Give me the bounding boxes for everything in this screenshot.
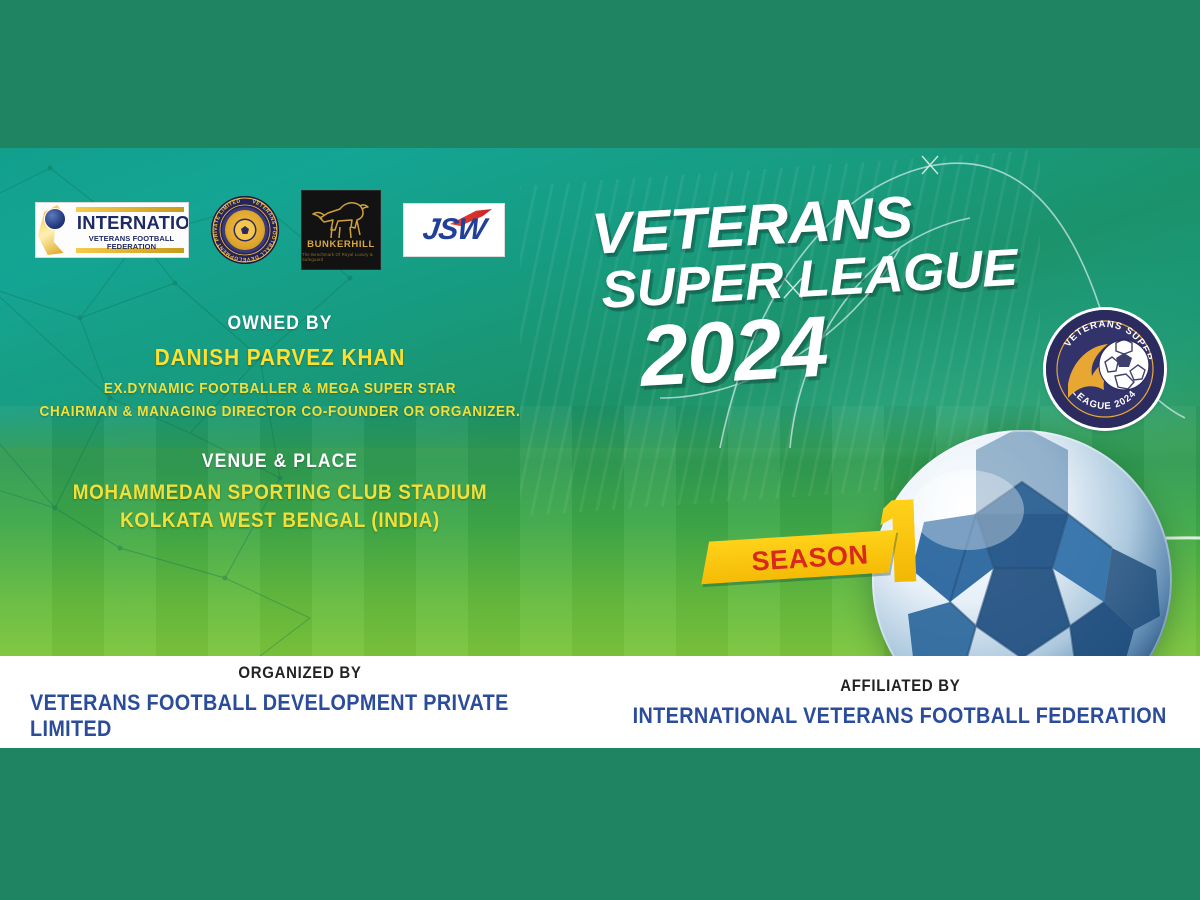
vsl-emblem-icon: VETERANS SUPER LEAGUE 2024 [1046,310,1164,428]
owner-subtitle-2: CHAIRMAN & MANAGING DIRECTOR CO-FOUNDER … [28,403,532,420]
ivff-logo-line1: INTERNATIONAL [77,214,186,232]
bunkerhill-logo[interactable]: BUNKERHILL The Benchmark Of Royal Luxury… [301,190,381,270]
credits-footer: ORGANIZED BY VETERANS FOOTBALL DEVELOPME… [0,656,1200,748]
international-veterans-football-federation-logo[interactable]: INTERNATIONAL VETERANS FOOTBALL FEDERATI… [35,202,189,258]
affiliated-by-label: AFFILIATED BY [840,676,960,696]
bunkerhill-tagline: The Benchmark Of Royal Luxury & Safeguar… [302,252,380,262]
winged-lion-icon [312,197,372,243]
ivff-logo-line2: VETERANS FOOTBALL FEDERATION [78,235,185,250]
veterans-super-league-emblem[interactable]: VETERANS SUPER LEAGUE 2024 [1046,310,1164,428]
gold-bar-top [76,207,184,212]
owner-venue-block: OWNED BY DANISH PARVEZ KHAN EX.DYNAMIC F… [0,313,560,533]
ivff-logo-text: INTERNATIONAL VETERANS FOOTBALL FEDERATI… [78,214,185,250]
owner-name: DANISH PARVEZ KHAN [28,344,532,371]
owned-by-label: OWNED BY [22,313,537,335]
event-banner: INTERNATIONAL VETERANS FOOTBALL FEDERATI… [0,148,1200,656]
venue-block: VENUE & PLACE MOHAMMEDAN SPORTING CLUB S… [0,451,560,533]
organized-by-column: ORGANIZED BY VETERANS FOOTBALL DEVELOPME… [0,656,600,748]
football-icon [235,220,255,240]
event-title-block: VETERANS SUPER LEAGUE 2024 SEASON [590,208,1070,398]
affiliated-by-value: INTERNATIONAL VETERANS FOOTBALL FEDERATI… [633,703,1167,729]
jsw-wordmark: JSW [421,213,488,247]
vfd-emblem-inner [225,210,265,250]
venue-line-1: MOHAMMEDAN SPORTING CLUB STADIUM [28,481,532,505]
venue-line-2: KOLKATA WEST BENGAL (INDIA) [28,509,532,533]
owner-subtitle-1: EX.DYNAMIC FOOTBALLER & MEGA SUPER STAR [28,380,532,397]
affiliated-by-column: AFFILIATED BY INTERNATIONAL VETERANS FOO… [600,656,1200,748]
venue-label: VENUE & PLACE [22,451,537,473]
veterans-football-development-private-limited-logo[interactable]: VETERANS FOOTBALL DEVELOPMENT PRIVATE LI… [211,196,279,264]
organized-by-value: VETERANS FOOTBALL DEVELOPMENT PRIVATE LI… [30,690,570,742]
football-icon [44,208,66,230]
banner-page: INTERNATIONAL VETERANS FOOTBALL FEDERATI… [0,0,1200,900]
jsw-logo[interactable]: JSW [403,203,505,257]
sponsor-logo-row: INTERNATIONAL VETERANS FOOTBALL FEDERATI… [35,190,505,270]
organized-by-label: ORGANIZED BY [238,663,361,683]
title-line-3-year: 2024 [638,293,1074,398]
